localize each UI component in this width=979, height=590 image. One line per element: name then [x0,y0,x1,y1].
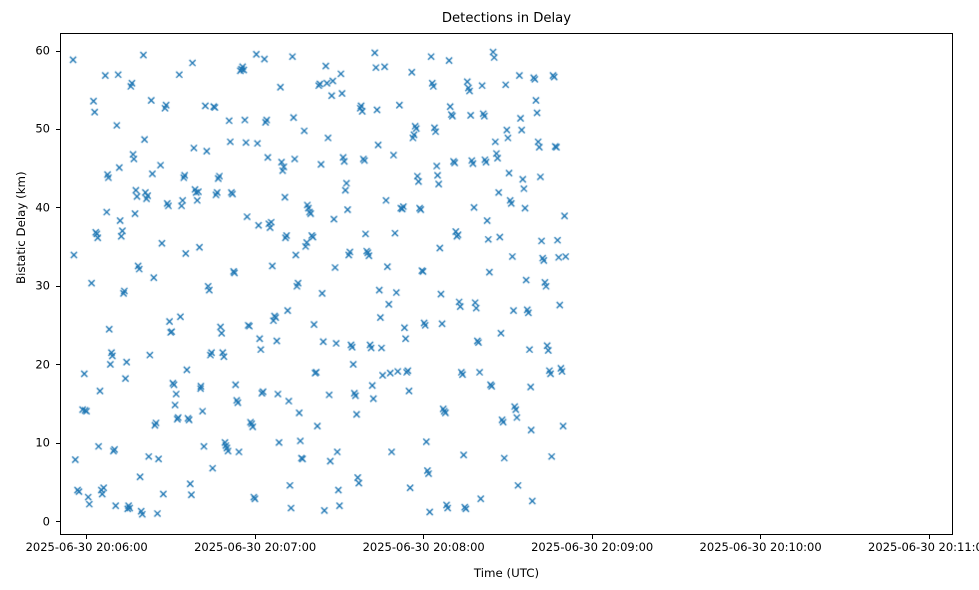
y-tick-mark [56,286,60,287]
y-tick-label: 10 [0,437,50,450]
x-tick-label: 2025-06-30 20:09:00 [531,541,653,554]
x-tick-mark [592,535,593,539]
x-tick-label: 2025-06-30 20:06:00 [26,541,148,554]
y-tick-label: 50 [0,123,50,136]
x-tick-label: 2025-06-30 20:07:00 [194,541,316,554]
y-tick-mark [56,364,60,365]
x-tick-label: 2025-06-30 20:10:00 [700,541,822,554]
matplotlib-figure: Detections in Delay 0102030405060 2025-0… [0,0,979,590]
y-tick-label: 0 [0,515,50,528]
y-tick-mark [56,521,60,522]
x-tick-mark [929,535,930,539]
x-tick-mark [423,535,424,539]
y-tick-mark [56,443,60,444]
y-axis-label: Bistatic Delay (km) [14,171,28,284]
x-tick-mark [255,535,256,539]
y-tick-mark [56,51,60,52]
x-tick-mark [760,535,761,539]
y-tick-label: 60 [0,45,50,58]
page-title: Detections in Delay [60,11,953,27]
y-tick-label: 20 [0,358,50,371]
y-tick-mark [56,207,60,208]
plot-area [60,33,953,535]
y-tick-mark [56,129,60,130]
x-axis-label: Time (UTC) [60,566,953,580]
x-tick-label: 2025-06-30 20:08:00 [363,541,485,554]
x-tick-mark [86,535,87,539]
x-tick-label: 2025-06-30 20:11:00 [868,541,979,554]
scatter-series [61,34,952,534]
